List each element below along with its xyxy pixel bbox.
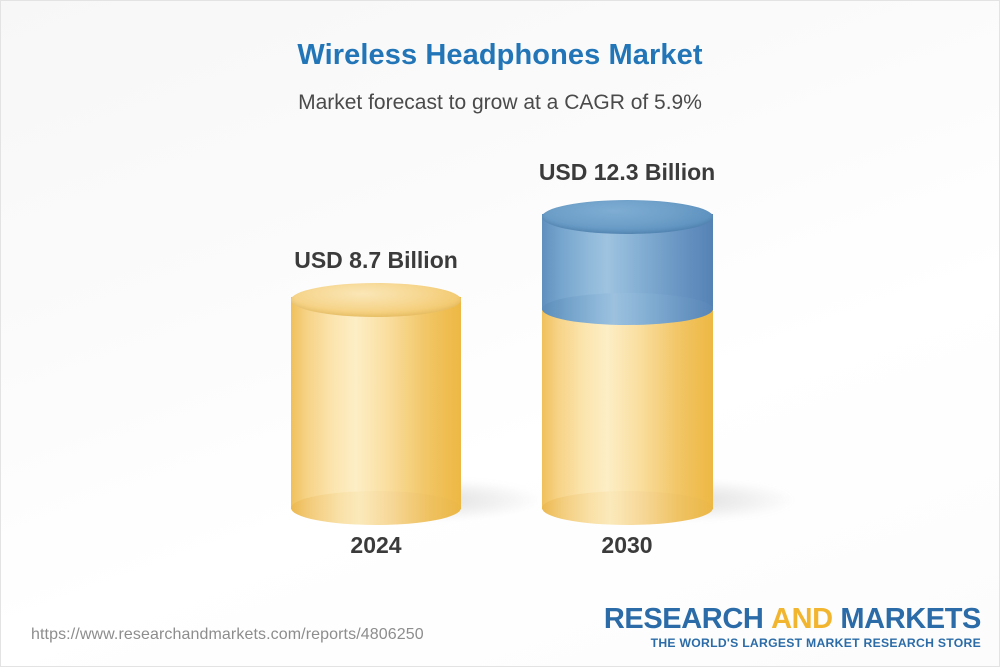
logo-word-markets: MARKETS xyxy=(840,603,981,635)
logo-tagline: THE WORLD'S LARGEST MARKET RESEARCH STOR… xyxy=(604,637,981,650)
logo-wordmark: RESEARCH AND MARKETS xyxy=(604,604,981,634)
bar-body-2024[interactable] xyxy=(291,297,461,509)
logo-word-and: AND xyxy=(771,603,833,635)
bar-top-cap-2030 xyxy=(542,200,713,234)
report-url[interactable]: https://www.researchandmarkets.com/repor… xyxy=(31,626,424,644)
value-label-2030: USD 12.3 Billion xyxy=(467,159,787,186)
plot-area: USD 8.7 Billion 2024 USD 12.3 Billion 20… xyxy=(1,1,1000,601)
logo-word-research: RESEARCH xyxy=(604,603,764,635)
bar-top-cap-2024 xyxy=(291,283,461,317)
bar-segment-base-2030[interactable] xyxy=(542,306,713,509)
value-label-2024: USD 8.7 Billion xyxy=(216,247,536,274)
bar-bottom-cap-2024 xyxy=(291,491,461,525)
chart-canvas: Wireless Headphones Market Market foreca… xyxy=(0,0,1000,667)
research-and-markets-logo[interactable]: RESEARCH AND MARKETS THE WORLD'S LARGEST… xyxy=(604,604,981,650)
bar-segment-seam-2030 xyxy=(542,293,713,325)
category-label-2030: 2030 xyxy=(467,532,787,559)
bar-bottom-cap-2030 xyxy=(542,491,713,525)
